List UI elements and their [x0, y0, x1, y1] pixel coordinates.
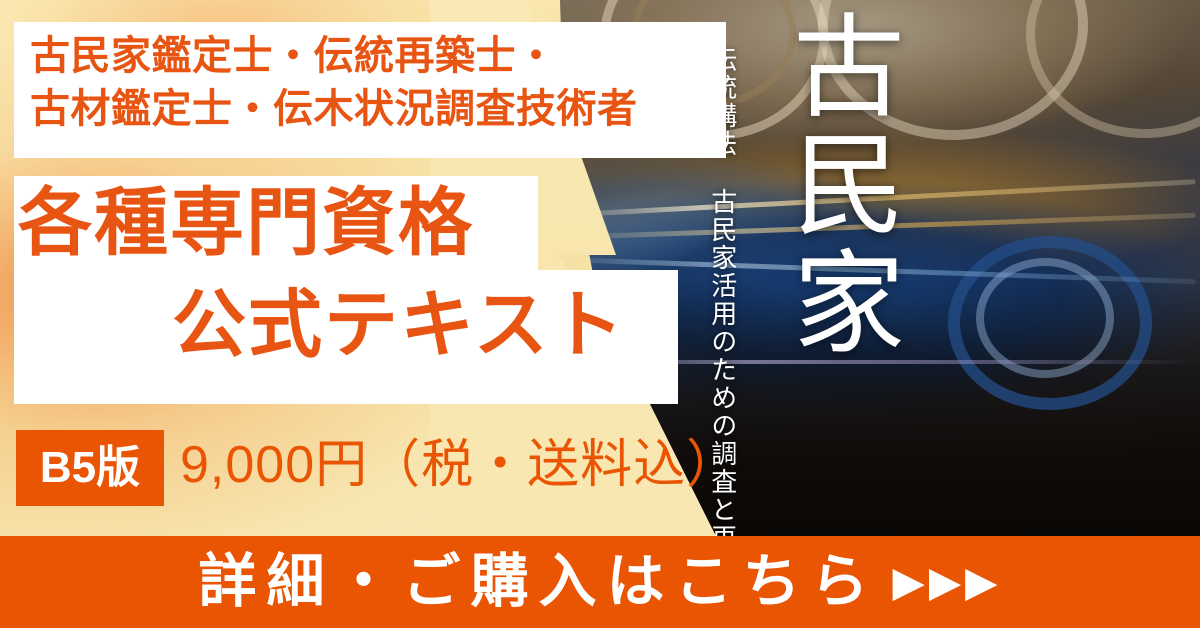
qualifications-line-1: 古民家鑑定士・伝統再築士・: [30, 30, 638, 83]
qualifications-text: 古民家鑑定士・伝統再築士・ 古材鑑定士・伝木状況調査技術者: [30, 30, 638, 136]
qualifications-line-2: 古材鑑定士・伝木状況調査技術者: [30, 83, 638, 136]
promotional-banner: 伝統構法 古民家活用のための調査と再生の 古民家 古民家鑑定士・伝統再築士・ 古…: [0, 0, 1200, 628]
qualifications-panel: 古民家鑑定士・伝統再築士・ 古材鑑定士・伝木状況調査技術者: [14, 22, 726, 158]
cta-label: 詳細・ご購入はこちら: [199, 553, 879, 611]
headline-line-2: 公式テキスト: [172, 288, 626, 362]
triple-arrow-icon: ▶▶▶: [893, 561, 1002, 603]
price-text: 9,000円（税・送料込）: [180, 434, 739, 496]
cover-title-vertical: 古民家: [772, 8, 902, 362]
headline-line-1: 各種専門資格: [18, 186, 474, 260]
format-badge-label: B5版: [40, 446, 140, 490]
cta-button[interactable]: 詳細・ご購入はこちら ▶▶▶: [0, 536, 1200, 628]
format-badge: B5版: [16, 430, 164, 506]
